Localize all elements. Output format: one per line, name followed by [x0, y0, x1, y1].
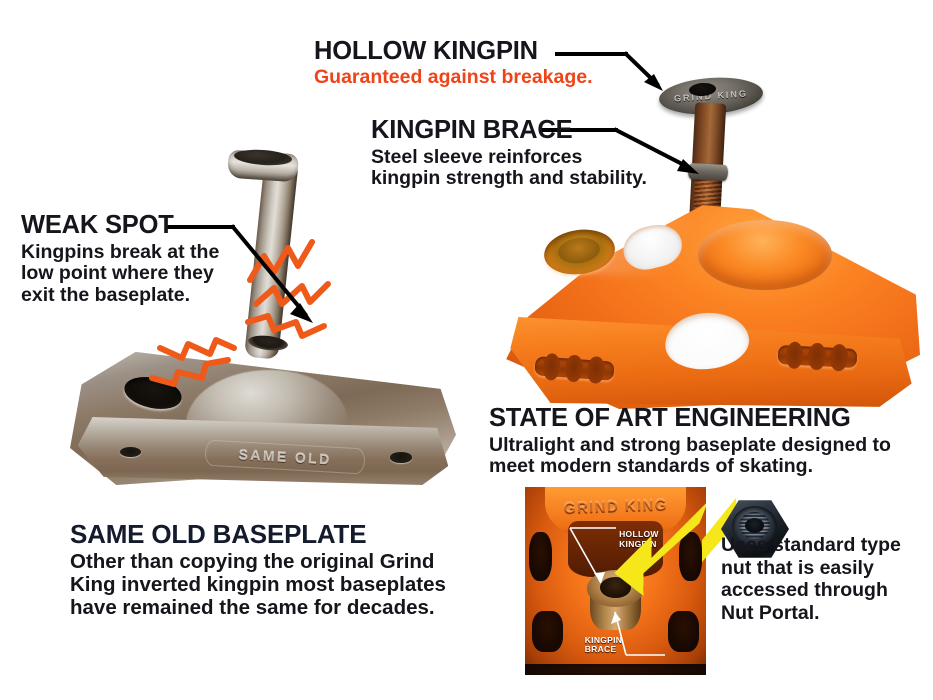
orange-wavy-slot-right	[777, 345, 857, 368]
callout-kingpin-brace-line1: Steel sleeve reinforces	[371, 147, 647, 169]
callout-state-of-art-line1: Ultralight and strong baseplate designed…	[489, 435, 891, 457]
silver-mount-hole-right	[390, 452, 411, 462]
callout-state-of-art-heading: STATE OF ART ENGINEERING	[489, 405, 891, 432]
callout-state-of-art: STATE OF ART ENGINEERING Ultralight and …	[489, 405, 891, 478]
callout-kingpin-brace-line2: kingpin strength and stability.	[371, 168, 647, 190]
callout-state-of-art-line2: meet modern standards of skating.	[489, 456, 891, 478]
callout-same-old-baseplate: SAME OLD BASEPLATE Other than copying th…	[70, 521, 446, 620]
callout-weak-spot-line1: Kingpins break at the	[21, 242, 219, 264]
grind-king-orange-baseplate-photo: GRIND KING	[486, 46, 933, 406]
callout-hollow-kingpin-heading: HOLLOW KINGPIN	[314, 38, 593, 65]
callout-same-old-line2: King inverted kingpin most baseplates	[70, 574, 446, 597]
callout-kingpin-brace-subtext: Steel sleeve reinforces kingpin strength…	[371, 147, 647, 191]
orange-kingpin-boss	[698, 220, 832, 291]
callout-kingpin-brace-heading: KINGPIN BRACE	[371, 117, 647, 144]
yellow-arrow-inset	[599, 497, 706, 607]
callout-same-old-line3: have remained the same for decades.	[70, 597, 446, 620]
callout-nut-portal-line3: accessed through	[721, 579, 901, 602]
nut-bore	[745, 518, 764, 533]
callout-nut-portal: Uses standard type nut that is easily ac…	[721, 534, 901, 624]
callout-weak-spot-line2: low point where they	[21, 263, 219, 285]
callout-weak-spot: WEAK SPOT Kingpins break at the low poin…	[21, 212, 219, 307]
same-old-silver-baseplate-photo: SAME OLD	[62, 140, 462, 510]
orange-baseplate-body	[502, 201, 920, 409]
callout-same-old-subtext: Other than copying the original Grind Ki…	[70, 551, 446, 620]
callout-hollow-kingpin: HOLLOW KINGPIN Guaranteed against breaka…	[314, 38, 593, 88]
callout-weak-spot-subtext: Kingpins break at the low point where th…	[21, 242, 219, 307]
callout-nut-portal-line4: Nut Portal.	[721, 602, 901, 625]
callout-hollow-kingpin-subtext: Guaranteed against breakage.	[314, 67, 593, 89]
callout-kingpin-brace: KINGPIN BRACE Steel sleeve reinforces ki…	[371, 117, 647, 190]
callout-weak-spot-line3: exit the baseplate.	[21, 285, 219, 307]
callout-same-old-heading: SAME OLD BASEPLATE	[70, 521, 446, 548]
callout-nut-portal-line2: nut that is easily	[721, 557, 901, 580]
callout-state-of-art-subtext: Ultralight and strong baseplate designed…	[489, 435, 891, 479]
callout-same-old-line1: Other than copying the original Grind	[70, 551, 446, 574]
baseplate-underside-inset-photo: GRIND KING HOLLOW KINGPIN KINGPIN BRACE	[525, 487, 706, 675]
callout-weak-spot-heading: WEAK SPOT	[21, 212, 219, 239]
callout-nut-portal-line1: Uses standard type	[721, 534, 901, 557]
silver-mount-hole-left	[120, 447, 141, 457]
callout-nut-portal-subtext: Uses standard type nut that is easily ac…	[721, 534, 901, 624]
infographic-page: SAME OLD GRIND KING	[0, 0, 933, 700]
kingpin-brace-sleeve	[688, 163, 729, 181]
